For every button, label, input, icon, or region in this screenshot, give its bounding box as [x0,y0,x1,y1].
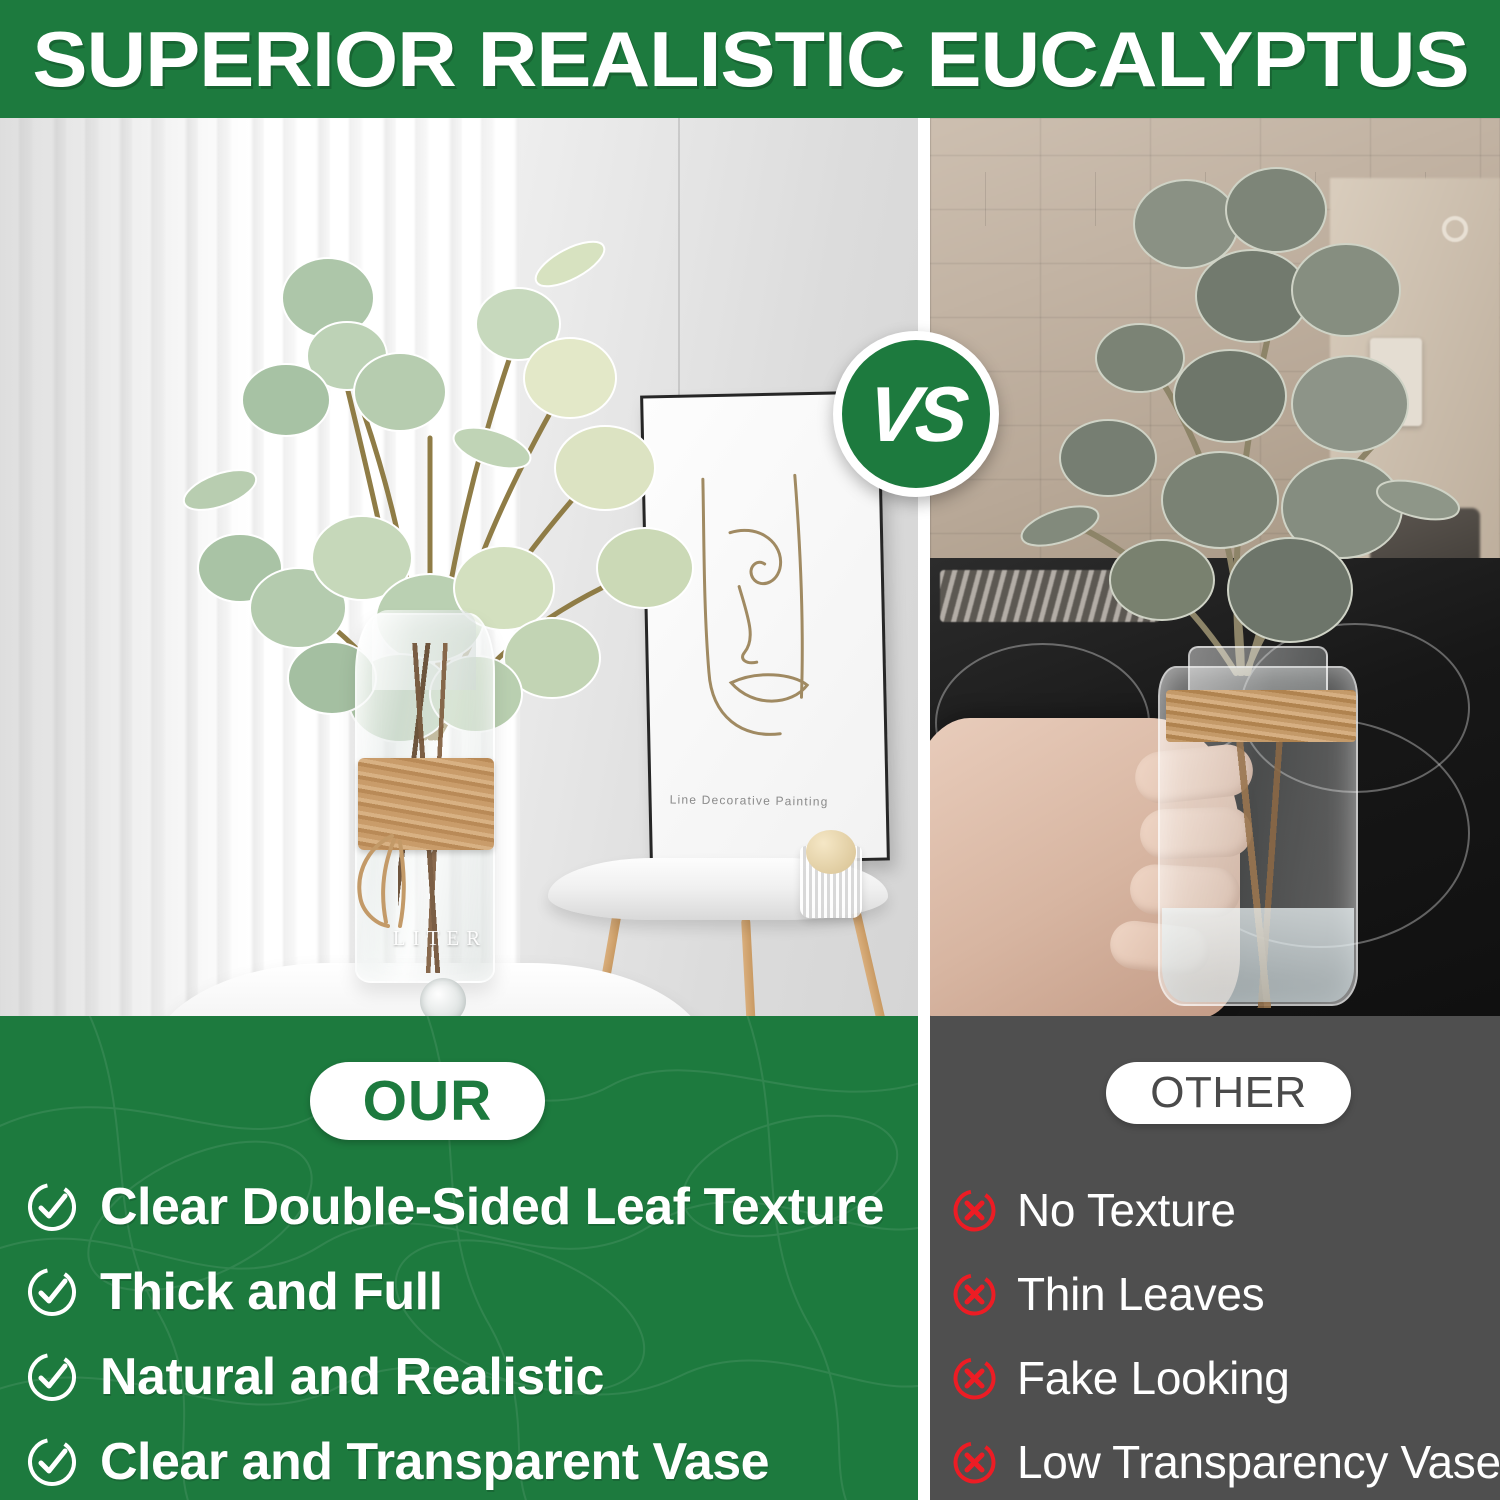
list-item: Thin Leaves [952,1252,1500,1336]
jar-twine-wrap [1166,690,1356,742]
our-features-panel: OUR Clear Double-Sided Leaf Texture Thic… [0,1016,918,1500]
list-item: Thick and Full [26,1249,918,1334]
our-product-photo: Line Decorative Painting [0,118,918,1016]
vs-label: VS [863,369,969,460]
check-circle-icon [26,1351,78,1403]
check-circle-icon [26,1436,78,1488]
list-item-label: Thin Leaves [1017,1267,1264,1321]
other-features-panel: OTHER No Texture Thin Leaves [930,1016,1500,1500]
other-feature-list: No Texture Thin Leaves Fake Looking [952,1168,1500,1500]
our-label-pill: OUR [310,1062,545,1140]
right-scene-background [930,118,1500,1016]
check-circle-icon [26,1181,78,1233]
list-item-label: Clear Double-Sided Leaf Texture [100,1177,884,1237]
list-item: Clear and Transparent Vase [26,1419,918,1500]
check-circle-icon [26,1266,78,1318]
list-item-label: Low Transparency Vase [1017,1435,1500,1489]
vs-badge: VS [833,331,999,497]
x-circle-icon [952,1188,997,1233]
our-label-text: OUR [363,1068,493,1134]
x-circle-icon [952,1272,997,1317]
list-item-label: No Texture [1017,1183,1236,1237]
feature-comparison-row: OUR Clear Double-Sided Leaf Texture Thic… [0,1016,1500,1500]
other-product-photo [930,118,1500,1016]
left-scene-background: Line Decorative Painting [0,118,918,1016]
poster-caption: Line Decorative Painting [670,792,875,809]
x-circle-icon [952,1440,997,1485]
photo-comparison-row: Line Decorative Painting [0,118,1500,1016]
twine-bow-icon [330,830,410,940]
our-feature-list: Clear Double-Sided Leaf Texture Thick an… [26,1164,918,1500]
list-item-label: Clear and Transparent Vase [100,1432,769,1492]
other-label-pill: OTHER [1106,1062,1351,1124]
dull-eucalyptus-arrangement [990,128,1500,688]
infographic-page: SUPERIOR REALISTIC EUCALYPTUS [0,0,1500,1500]
list-item: Fake Looking [952,1336,1500,1420]
list-item-label: Fake Looking [1017,1351,1290,1405]
x-circle-icon [952,1356,997,1401]
vase-embossed-text: LITER [380,926,500,951]
list-item: Clear Double-Sided Leaf Texture [26,1164,918,1249]
list-item: Natural and Realistic [26,1334,918,1419]
vase-seal [420,978,466,1016]
photo-divider [918,118,930,1016]
jar-water [1162,908,1354,1002]
dried-flower-ball [806,830,856,874]
list-item-label: Thick and Full [100,1262,443,1322]
list-item: No Texture [952,1168,1500,1252]
page-title: SUPERIOR REALISTIC EUCALYPTUS [32,14,1468,105]
panel-divider [918,1016,930,1500]
list-item: Low Transparency Vase [952,1420,1500,1500]
other-label-text: OTHER [1150,1068,1307,1118]
header-banner: SUPERIOR REALISTIC EUCALYPTUS [0,0,1500,118]
list-item-label: Natural and Realistic [100,1347,604,1407]
